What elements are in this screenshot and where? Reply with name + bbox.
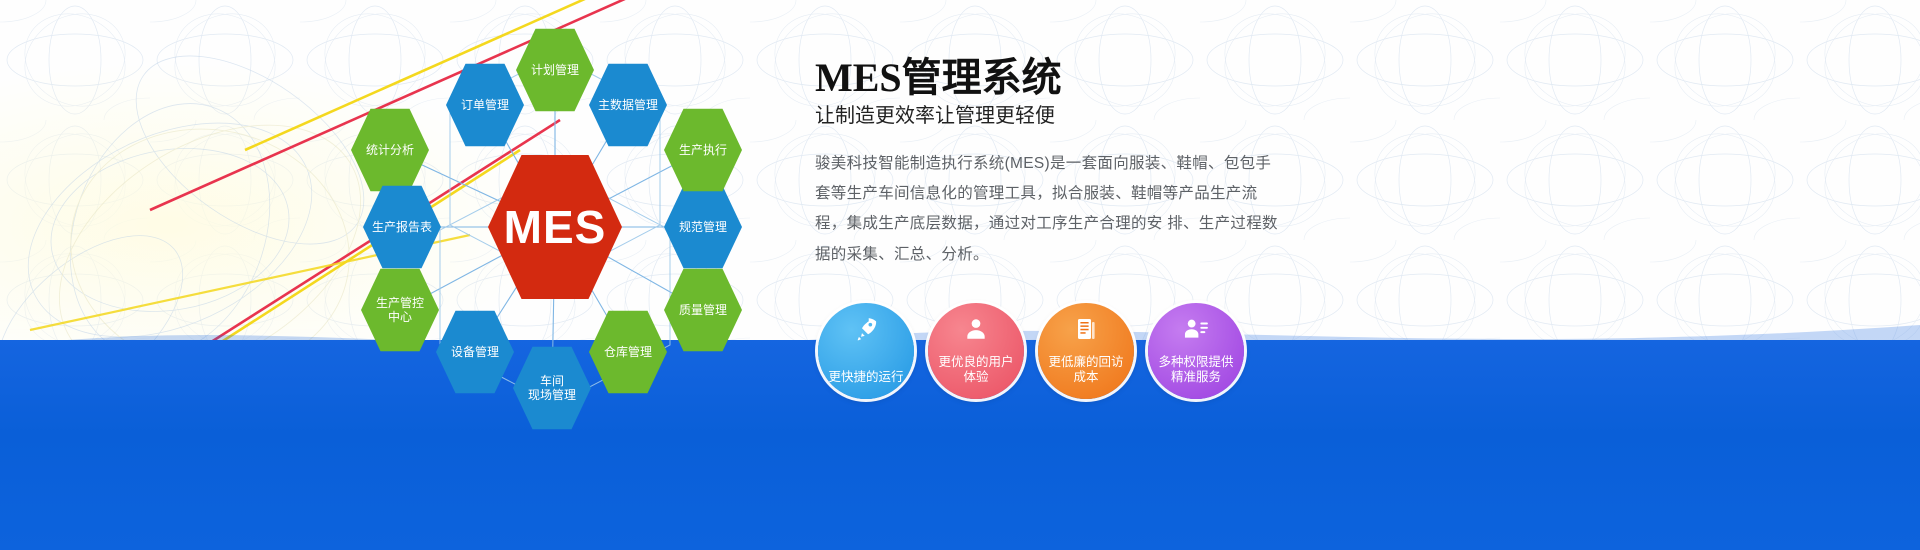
hex-center-label: MES	[500, 200, 611, 254]
hex-node-production-execution[interactable]: 生产执行	[664, 107, 742, 193]
hex-label: 生产执行	[675, 143, 731, 157]
hex-label: 质量管理	[675, 303, 731, 317]
mes-promo-banner: MES 计划管理 订单管理 统计分析 生产报告表 生产管控中心 设备管理 车间现…	[0, 0, 1920, 550]
permission-icon	[1181, 314, 1211, 344]
hex-label: 设备管理	[447, 345, 503, 359]
promo-content: MES管理系统 让制造更效率让管理更轻便 骏美科技智能制造执行系统(MES)是一…	[815, 55, 1285, 270]
hex-label: 计划管理	[527, 63, 583, 77]
badge-low-revisit-cost[interactable]: 更低廉的回访成本	[1038, 303, 1134, 399]
hex-label: 车间现场管理	[524, 374, 580, 402]
hex-node-specification-management[interactable]: 规范管理	[664, 184, 742, 270]
badge-fast-operation[interactable]: 更快捷的运行	[818, 303, 914, 399]
hex-node-order-management[interactable]: 订单管理	[446, 62, 524, 148]
hex-node-plan-management[interactable]: 计划管理	[516, 27, 594, 113]
hex-label: 生产管控中心	[372, 296, 428, 324]
badge-permission-service[interactable]: 多种权限提供精准服务	[1148, 303, 1244, 399]
hex-node-workshop-site-management[interactable]: 车间现场管理	[513, 345, 591, 431]
user-icon	[961, 314, 991, 344]
hexagon-nodes: MES 计划管理 订单管理 统计分析 生产报告表 生产管控中心 设备管理 车间现…	[330, 0, 800, 450]
badge-label: 更低廉的回访成本	[1048, 355, 1123, 386]
hex-label: 统计分析	[362, 143, 418, 157]
hex-node-equipment-management[interactable]: 设备管理	[436, 309, 514, 395]
page-subtitle: 让制造更效率让管理更轻便	[815, 103, 1285, 129]
badge-user-experience[interactable]: 更优良的用户体验	[928, 303, 1024, 399]
mes-hexagon-diagram: MES 计划管理 订单管理 统计分析 生产报告表 生产管控中心 设备管理 车间现…	[330, 0, 800, 450]
hex-label: 规范管理	[675, 220, 731, 234]
hex-label: 生产报告表	[368, 220, 436, 234]
badge-label: 多种权限提供精准服务	[1158, 355, 1233, 386]
hex-node-master-data-management[interactable]: 主数据管理	[589, 62, 667, 148]
hex-node-production-report[interactable]: 生产报告表	[363, 184, 441, 270]
badge-label: 更快捷的运行	[828, 370, 903, 386]
badge-label: 更优良的用户体验	[938, 355, 1013, 386]
hex-label: 订单管理	[457, 98, 513, 112]
rocket-icon	[851, 314, 881, 344]
feature-badges: 更快捷的运行 更优良的用户体验	[818, 303, 1244, 399]
document-icon	[1071, 314, 1101, 344]
hex-node-center[interactable]: MES	[488, 152, 622, 302]
description-paragraph: 骏美科技智能制造执行系统(MES)是一套面向服装、鞋帽、包包手套等生产车间信息化…	[815, 149, 1285, 270]
hex-node-warehouse-management[interactable]: 仓库管理	[589, 309, 667, 395]
hex-node-statistical-analysis[interactable]: 统计分析	[351, 107, 429, 193]
hex-node-production-control-center[interactable]: 生产管控中心	[361, 267, 439, 353]
hex-label: 仓库管理	[600, 345, 656, 359]
page-title: MES管理系统	[815, 55, 1285, 101]
hex-node-quality-management[interactable]: 质量管理	[664, 267, 742, 353]
hex-label: 主数据管理	[594, 98, 662, 112]
